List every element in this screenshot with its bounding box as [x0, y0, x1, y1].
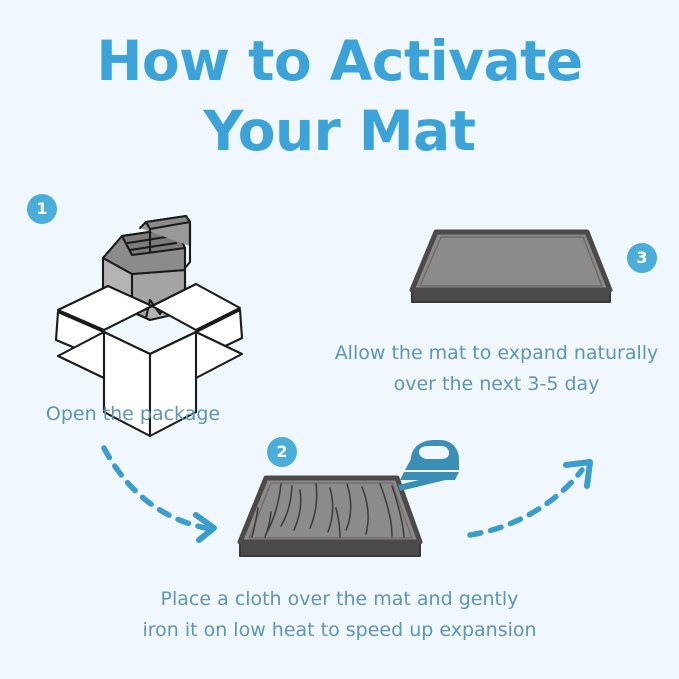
arrows-layer: [0, 0, 679, 679]
dashed-arrow-up-right-icon: [470, 462, 590, 535]
infographic-canvas: How to Activate Your Mat: [0, 0, 679, 679]
dashed-arrow-down-right-icon: [104, 448, 214, 540]
